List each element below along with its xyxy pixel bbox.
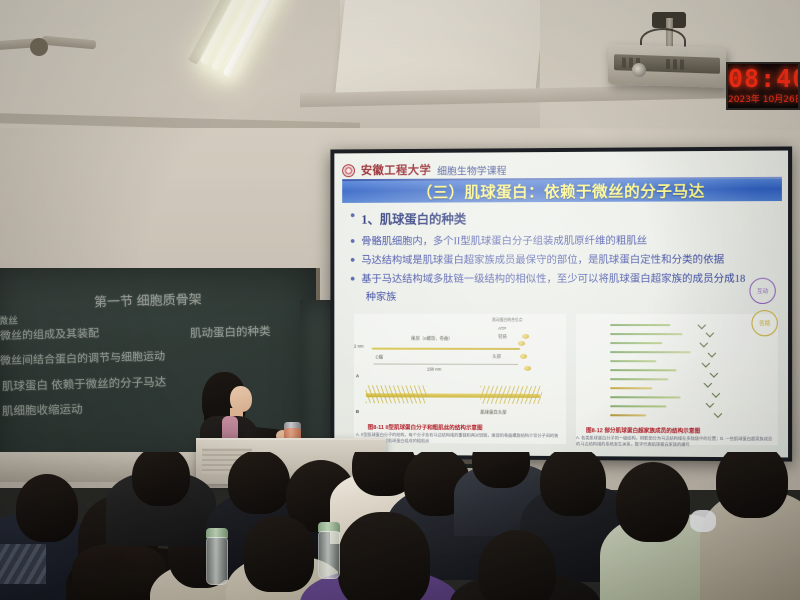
chalk-line: 微丝: [0, 312, 18, 328]
student-head: [244, 516, 314, 592]
student-head: [16, 474, 78, 542]
bullet-text: 1、肌球蛋白的种类: [361, 208, 466, 227]
figure-annotation: 150 nm: [427, 367, 441, 372]
projection-screen-frame: 安徽工程大学 细胞生物学课程 （三）肌球蛋白：依赖于微丝的分子马达 ● 1、肌球…: [330, 146, 792, 461]
figure-annotation: 尾部（α螺旋，卷曲）: [411, 336, 453, 342]
bullet-text: 基于马达结构域多肽链一级结构的相似性，至少可以将肌球蛋白超家族的成员分成18: [361, 272, 745, 287]
student-head: [338, 512, 430, 600]
myosin-head: [518, 341, 525, 346]
student-head: [132, 452, 190, 506]
bullet-dot-icon: ●: [350, 235, 355, 248]
university-logo-icon: [342, 164, 355, 177]
bullet-item: ● 基于马达结构域多肽链一级结构的相似性，至少可以将肌球蛋白超家族的成员分成18: [350, 272, 786, 288]
university-name: 安徽工程大学: [361, 162, 431, 178]
bullet-item: ● 马达结构域是肌球蛋白超家族成员最保守的部位，是肌球蛋白定性和分类的依据: [350, 253, 784, 269]
projector-back-panel: [614, 54, 720, 74]
ceiling-projector: [608, 44, 726, 88]
course-name: 细胞生物学课程: [437, 162, 506, 177]
led-wall-clock: 08:40 2023年 10月26日: [726, 62, 800, 110]
bullet-item: ● 骨骼肌细胞内，多个II型肌球蛋白分子组装成肌原纤维的粗肌丝: [350, 233, 780, 249]
projector-lens: [632, 63, 646, 77]
clock-date: 2023年 10月26日: [728, 92, 800, 105]
water-bottle: [318, 531, 340, 579]
ceiling-fan: [0, 34, 96, 60]
scale-bar: [374, 364, 518, 365]
bullet-dot-icon: ●: [350, 209, 355, 222]
figure-annotation: 肌动蛋白结合位点: [492, 318, 522, 323]
figure-caption: 图8-12 部分肌球蛋白超家族成员的结构示意图: [586, 426, 700, 435]
figure-subcaption: A. II型肌球蛋白分子的结构，每个分子含有马达结构域的重链和两对轻链，尾部的卷…: [356, 432, 562, 446]
water-bottle: [206, 537, 228, 585]
chalk-side-note: 肌动蛋白的种类: [190, 323, 271, 341]
figure-panel-label: A: [356, 373, 359, 378]
slide-title: （三）肌球蛋白：依赖于微丝的分子马达: [417, 179, 705, 202]
myosin-tail: [372, 348, 520, 350]
student-head: [616, 462, 690, 542]
figure-annotation: 肌球蛋白头部: [480, 410, 506, 416]
chalk-heading: 第一节 细胞质骨架: [94, 289, 202, 311]
bullet-item: ● 1、肌球蛋白的种类: [350, 207, 780, 228]
figure-myosin-structure: 尾部（α螺旋，卷曲） 2 nm C端 肌动蛋白结合位点 ATP 轻链 头部 15…: [354, 314, 566, 444]
filament-heads-left: [366, 385, 427, 403]
myosin-head: [522, 334, 529, 339]
student-jacket-stripes: [0, 544, 46, 584]
chalk-line: 肌球蛋白 依赖于微丝的分子马达: [2, 374, 167, 395]
face-mask: [690, 510, 716, 532]
figure-annotation: C端: [376, 355, 383, 361]
figure-annotation: 2 nm: [354, 344, 364, 349]
student-head: [228, 452, 290, 514]
figure-caption: 图8-11 II型肌球蛋白分子和粗肌丝的结构示意图: [368, 423, 483, 432]
figure-myosin-superfamily: 图8-12 部分肌球蛋白超家族成员的结构示意图 A. 各类肌球蛋白分子的一级结构…: [576, 314, 778, 445]
quiz-stamp[interactable]: 答题: [751, 310, 777, 336]
filament-heads-right: [480, 386, 542, 404]
figure-subcaption: A. 各类肌球蛋白分子的一级结构，阴影部分为马达结构域在多肽链中的位置；B. 一…: [576, 435, 774, 449]
bullet-dot-icon: ●: [350, 253, 355, 266]
figure-annotation: 头部: [492, 354, 501, 360]
projected-slide: 安徽工程大学 细胞生物学课程 （三）肌球蛋白：依赖于微丝的分子马达 ● 1、肌球…: [334, 151, 788, 458]
figure-annotation: ATP: [498, 326, 506, 331]
bullet-text: 骨骼肌细胞内，多个II型肌球蛋白分子组装成肌原纤维的粗肌丝: [361, 234, 647, 250]
myosin-head: [520, 354, 527, 359]
bullet-item: 种家族: [366, 290, 788, 305]
figure-panel-label: B: [356, 409, 359, 414]
figure-annotation: 轻链: [498, 334, 507, 340]
clock-time: 08:40: [728, 65, 800, 92]
myosin-head: [524, 366, 531, 371]
bullet-text: 种家族: [366, 290, 397, 305]
bullet-dot-icon: ●: [350, 272, 355, 285]
student-head: [716, 452, 788, 518]
ceiling-slab: [335, 0, 545, 95]
chalk-line: 微丝的组成及其装配: [0, 325, 99, 344]
student-audience: [0, 452, 800, 600]
student-head: [540, 452, 606, 516]
interaction-stamp[interactable]: 互动: [749, 278, 775, 304]
classroom-photo: 08:40 2023年 10月26日 第一节 细胞质骨架 微丝 微丝的组成及其装…: [0, 0, 800, 600]
chalk-line: 微丝间结合蛋白的调节与细胞运动: [0, 348, 165, 369]
chalk-line: 肌细胞收缩运动: [2, 401, 83, 419]
bullet-text: 马达结构域是肌球蛋白超家族成员最保守的部位，是肌球蛋白定性和分类的依据: [361, 253, 724, 269]
slide-title-bar: （三）肌球蛋白：依赖于微丝的分子马达: [342, 179, 782, 203]
